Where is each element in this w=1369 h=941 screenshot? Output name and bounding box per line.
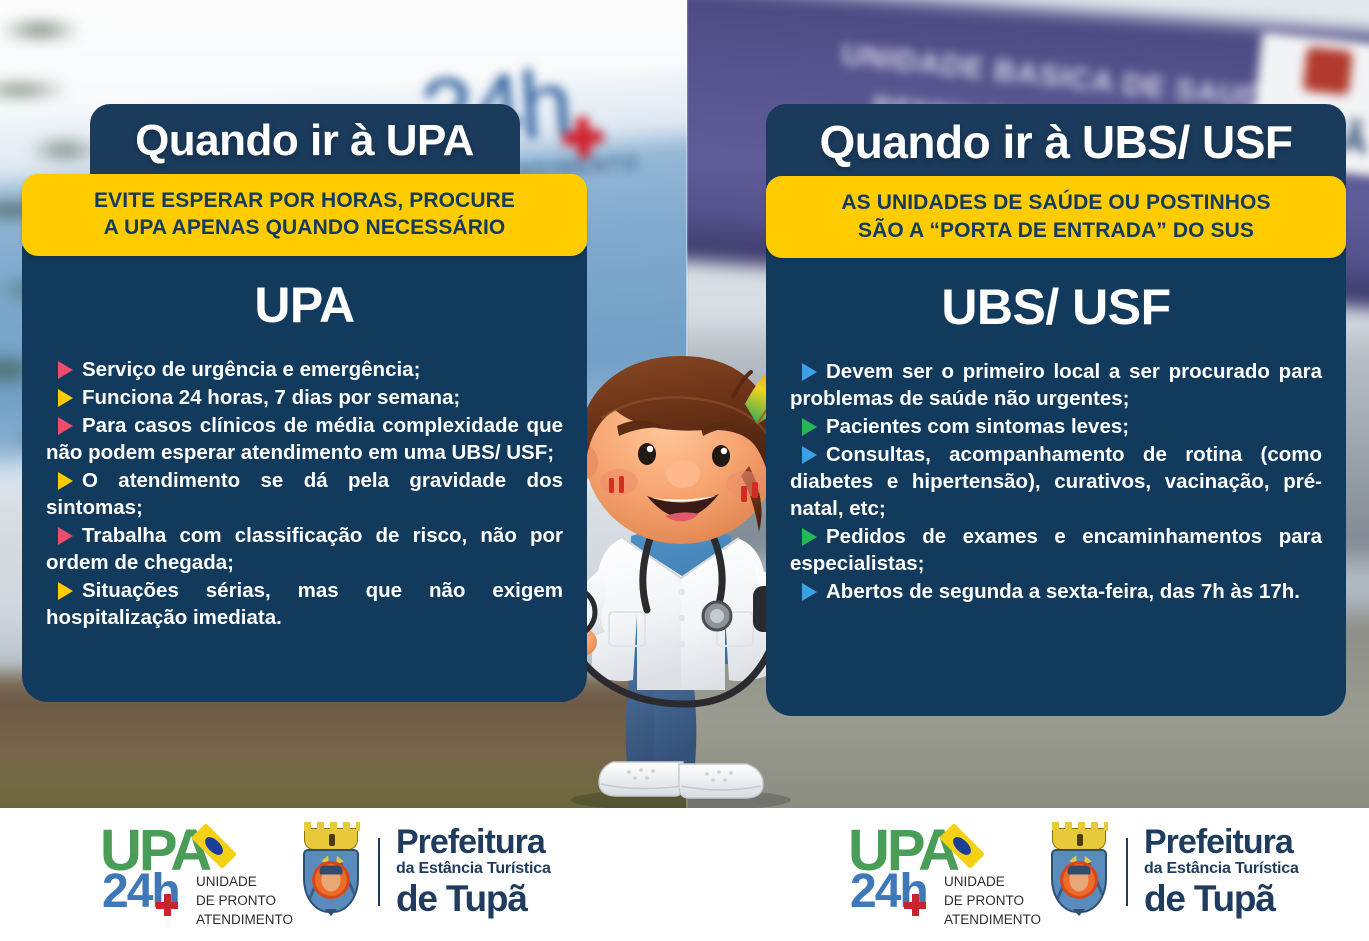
- list-item: Funciona 24 horas, 7 dias por semana;: [46, 384, 563, 411]
- panel-ubs-kicker: AS UNIDADES DE SAÚDE OU POSTINHOS SÃO A …: [766, 176, 1346, 258]
- bullet-text: Consultas, acompanhamento de rotina (com…: [790, 443, 1322, 520]
- panel-upa-kicker-line-2: A UPA APENAS QUANDO NECESSÁRIO: [40, 214, 569, 241]
- panel-upa: Quando ir à UPA EVITE ESPERAR POR HORAS,…: [22, 104, 587, 702]
- triangle-bullet-icon: [58, 527, 73, 545]
- triangle-bullet-icon: [58, 389, 73, 407]
- tupa-shield-icon: [1303, 47, 1353, 96]
- infographic-poster: UPA 24h ATENDIMENTO UNIDADE BASICA DE SA…: [0, 0, 1369, 941]
- panel-ubs-kicker-line-2: SÃO A “PORTA DE ENTRADA” DO SUS: [784, 217, 1328, 244]
- prefeitura-tupa-logo: Prefeitura da Estância Turística de Tupã: [300, 825, 551, 919]
- tupa-coat-of-arms-icon: [300, 828, 362, 916]
- upa-logo-subtitle: UNIDADEDE PRONTOATENDIMENTO: [944, 872, 1041, 929]
- list-item: Serviço de urgência e emergência;: [46, 356, 563, 383]
- left-eye: [638, 443, 656, 465]
- panel-upa-kicker-line-1: EVITE ESPERAR POR HORAS, PROCURE: [40, 187, 569, 214]
- shield-tip: [1073, 909, 1085, 916]
- upa-logo-subtitle-line-2: DE PRONTO: [196, 893, 276, 908]
- list-item: Consultas, acompanhamento de rotina (com…: [790, 441, 1322, 522]
- prefeitura-line-3: de Tupã: [1144, 880, 1299, 919]
- upa-24h-logo: UPA 24h UNIDADEDE PRONTOATENDIMENTO: [100, 822, 258, 922]
- list-item: O atendimento se dá pela gravidade dos s…: [46, 467, 563, 521]
- upa-logo-subtitle-line-3: ATENDIMENTO: [196, 912, 293, 927]
- triangle-bullet-icon: [802, 528, 817, 546]
- logo-group-1: UPA 24h UNIDADEDE PRONTOATENDIMENTO: [100, 822, 551, 922]
- panel-ubs-subtitle: UBS/ USF: [790, 282, 1322, 332]
- upa-24h-logo: UPA 24h UNIDADEDE PRONTOATENDIMENTO: [848, 822, 1006, 922]
- triangle-bullet-icon: [802, 418, 817, 436]
- medical-cross-icon: [904, 894, 926, 916]
- prefeitura-wordmark: Prefeitura da Estância Turística de Tupã: [396, 825, 551, 919]
- upa-logo-subtitle-line-3: ATENDIMENTO: [944, 912, 1041, 927]
- upa-logo-subtitle-line-1: UNIDADE: [944, 874, 1005, 889]
- bullet-text: O atendimento se dá pela gravidade dos s…: [46, 469, 563, 519]
- upa-logo-subtitle-line-2: DE PRONTO: [944, 893, 1024, 908]
- left-shoe: [599, 762, 683, 796]
- triangle-bullet-icon: [58, 472, 73, 490]
- indigenous-face-icon: [1070, 868, 1089, 891]
- medical-cross-icon: [156, 894, 178, 916]
- tupa-coat-of-arms-icon: [1048, 828, 1110, 916]
- indigenous-face-icon: [322, 868, 341, 891]
- bullet-text: Para casos clínicos de média complexidad…: [46, 414, 563, 464]
- panel-ubs-bullet-list: Devem ser o primeiro local a ser procura…: [790, 358, 1322, 605]
- crown-icon: [304, 828, 358, 850]
- crown-icon: [1052, 828, 1106, 850]
- panel-upa-bullet-list: Serviço de urgência e emergência; Funcio…: [46, 356, 563, 631]
- vertical-divider: [1126, 838, 1128, 906]
- bullet-text: Pedidos de exames e encaminhamentos para…: [790, 525, 1322, 575]
- bullet-text: Trabalha com classificação de risco, não…: [46, 524, 563, 574]
- panel-upa-title: Quando ir à UPA: [112, 118, 498, 164]
- triangle-bullet-icon: [58, 361, 73, 379]
- bullet-text: Funciona 24 horas, 7 dias por semana;: [82, 386, 460, 409]
- panel-ubs-title: Quando ir à UBS/ USF: [788, 118, 1324, 166]
- panel-upa-kicker: EVITE ESPERAR POR HORAS, PROCURE A UPA A…: [22, 174, 587, 256]
- shield-tip: [325, 909, 337, 916]
- prefeitura-line-2: da Estância Turística: [1144, 859, 1299, 880]
- triangle-bullet-icon: [58, 417, 73, 435]
- panel-upa-body: UPA Serviço de urgência e emergência; Fu…: [22, 246, 587, 702]
- prefeitura-line-1: Prefeitura: [396, 825, 551, 859]
- list-item: Pacientes com sintomas leves;: [790, 413, 1322, 440]
- bullet-text: Pacientes com sintomas leves;: [826, 415, 1129, 438]
- triangle-bullet-icon: [802, 583, 817, 601]
- footer-logo-bar: UPA 24h UNIDADEDE PRONTOATENDIMENTO: [0, 808, 1369, 941]
- prefeitura-tupa-logo: Prefeitura da Estância Turística de Tupã: [1048, 825, 1299, 919]
- bullet-text: Abertos de segunda a sexta-feira, das 7h…: [826, 580, 1300, 603]
- prefeitura-line-2: da Estância Turística: [396, 859, 551, 880]
- shield-icon: [1051, 849, 1107, 913]
- list-item: Pedidos de exames e encaminhamentos para…: [790, 523, 1322, 577]
- list-item: Situações sérias, mas que não exigem hos…: [46, 577, 563, 631]
- prefeitura-line-1: Prefeitura: [1144, 825, 1299, 859]
- nose: [666, 460, 700, 488]
- panel-ubs-usf: Quando ir à UBS/ USF AS UNIDADES DE SAÚD…: [766, 104, 1346, 716]
- list-item: Trabalha com classificação de risco, não…: [46, 522, 563, 576]
- logo-group-2: UPA 24h UNIDADEDE PRONTOATENDIMENTO: [848, 822, 1299, 922]
- panel-ubs-body: UBS/ USF Devem ser o primeiro local a se…: [766, 248, 1346, 716]
- right-shoe: [679, 764, 763, 798]
- upa-logo-subtitle-line-1: UNIDADE: [196, 874, 257, 889]
- bullet-text: Situações sérias, mas que não exigem hos…: [46, 579, 563, 629]
- bullet-text: Devem ser o primeiro local a ser procura…: [790, 360, 1322, 410]
- prefeitura-wordmark: Prefeitura da Estância Turística de Tupã: [1144, 825, 1299, 919]
- upa-logo-subtitle: UNIDADEDE PRONTOATENDIMENTO: [196, 872, 293, 929]
- shield-icon: [303, 849, 359, 913]
- list-item: Para casos clínicos de média complexidad…: [46, 412, 563, 466]
- list-item: Devem ser o primeiro local a ser procura…: [790, 358, 1322, 412]
- list-item: Abertos de segunda a sexta-feira, das 7h…: [790, 578, 1322, 605]
- triangle-bullet-icon: [58, 582, 73, 600]
- triangle-bullet-icon: [802, 363, 817, 381]
- panel-ubs-kicker-line-1: AS UNIDADES DE SAÚDE OU POSTINHOS: [784, 189, 1328, 216]
- vertical-divider: [378, 838, 380, 906]
- prefeitura-line-3: de Tupã: [396, 880, 551, 919]
- panel-upa-subtitle: UPA: [46, 280, 563, 330]
- right-eye: [712, 445, 730, 467]
- bullet-text: Serviço de urgência e emergência;: [82, 358, 420, 381]
- triangle-bullet-icon: [802, 446, 817, 464]
